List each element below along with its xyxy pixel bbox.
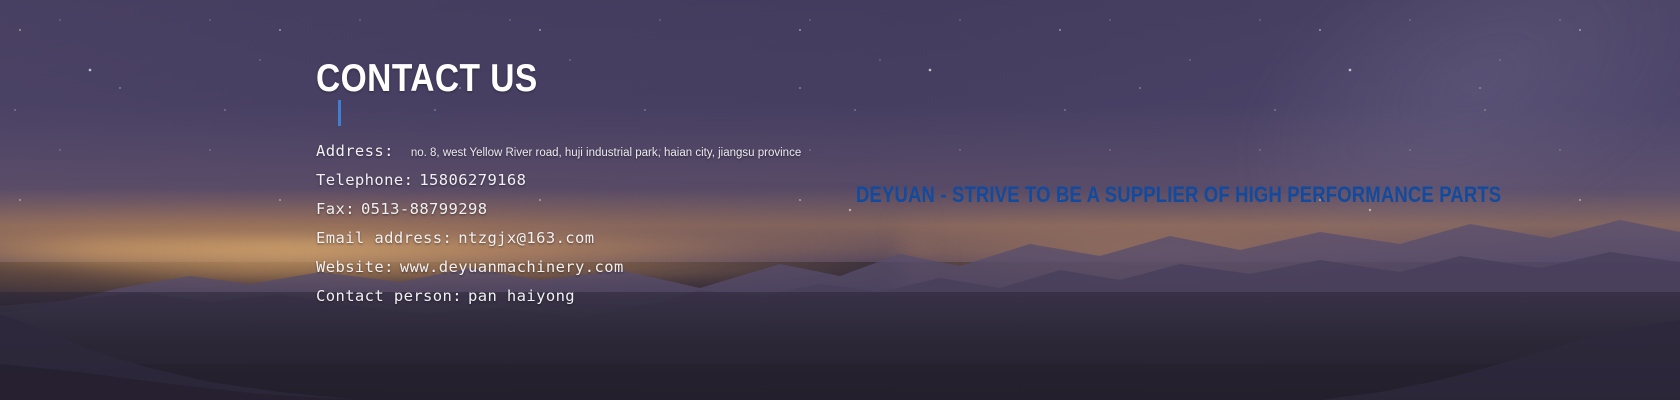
contact-banner: CONTACT US Address: no. 8, west Yellow R… <box>0 0 1680 400</box>
contact-person-value: pan haiyong <box>468 287 575 305</box>
title-accent-bar <box>338 100 341 126</box>
address-label: Address: <box>316 142 394 160</box>
contact-person-label: Contact person: <box>316 287 462 305</box>
contact-row-address: Address: no. 8, west Yellow River road, … <box>316 142 1136 171</box>
telephone-value[interactable]: 15806279168 <box>419 171 526 189</box>
email-label: Email address: <box>316 229 452 247</box>
contact-row-email: Email address: ntzgjx@163.com <box>316 229 1136 258</box>
contact-details-list: Address: no. 8, west Yellow River road, … <box>316 142 1136 316</box>
contact-row-website: Website: www.deyuanmachinery.com <box>316 258 1136 287</box>
address-value: no. 8, west Yellow River road, huji indu… <box>411 147 801 159</box>
contact-row-contact-person: Contact person: pan haiyong <box>316 287 1136 316</box>
fax-value: 0513-88799298 <box>361 200 488 218</box>
website-value[interactable]: www.deyuanmachinery.com <box>400 258 624 276</box>
banner-content: CONTACT US Address: no. 8, west Yellow R… <box>0 0 1680 400</box>
telephone-label: Telephone: <box>316 171 413 189</box>
page-title: CONTACT US <box>316 58 538 100</box>
email-value[interactable]: ntzgjx@163.com <box>458 229 594 247</box>
company-slogan: DEYUAN - STRIVE TO BE A SUPPLIER OF HIGH… <box>856 182 1501 208</box>
fax-label: Fax: <box>316 200 355 218</box>
website-label: Website: <box>316 258 394 276</box>
